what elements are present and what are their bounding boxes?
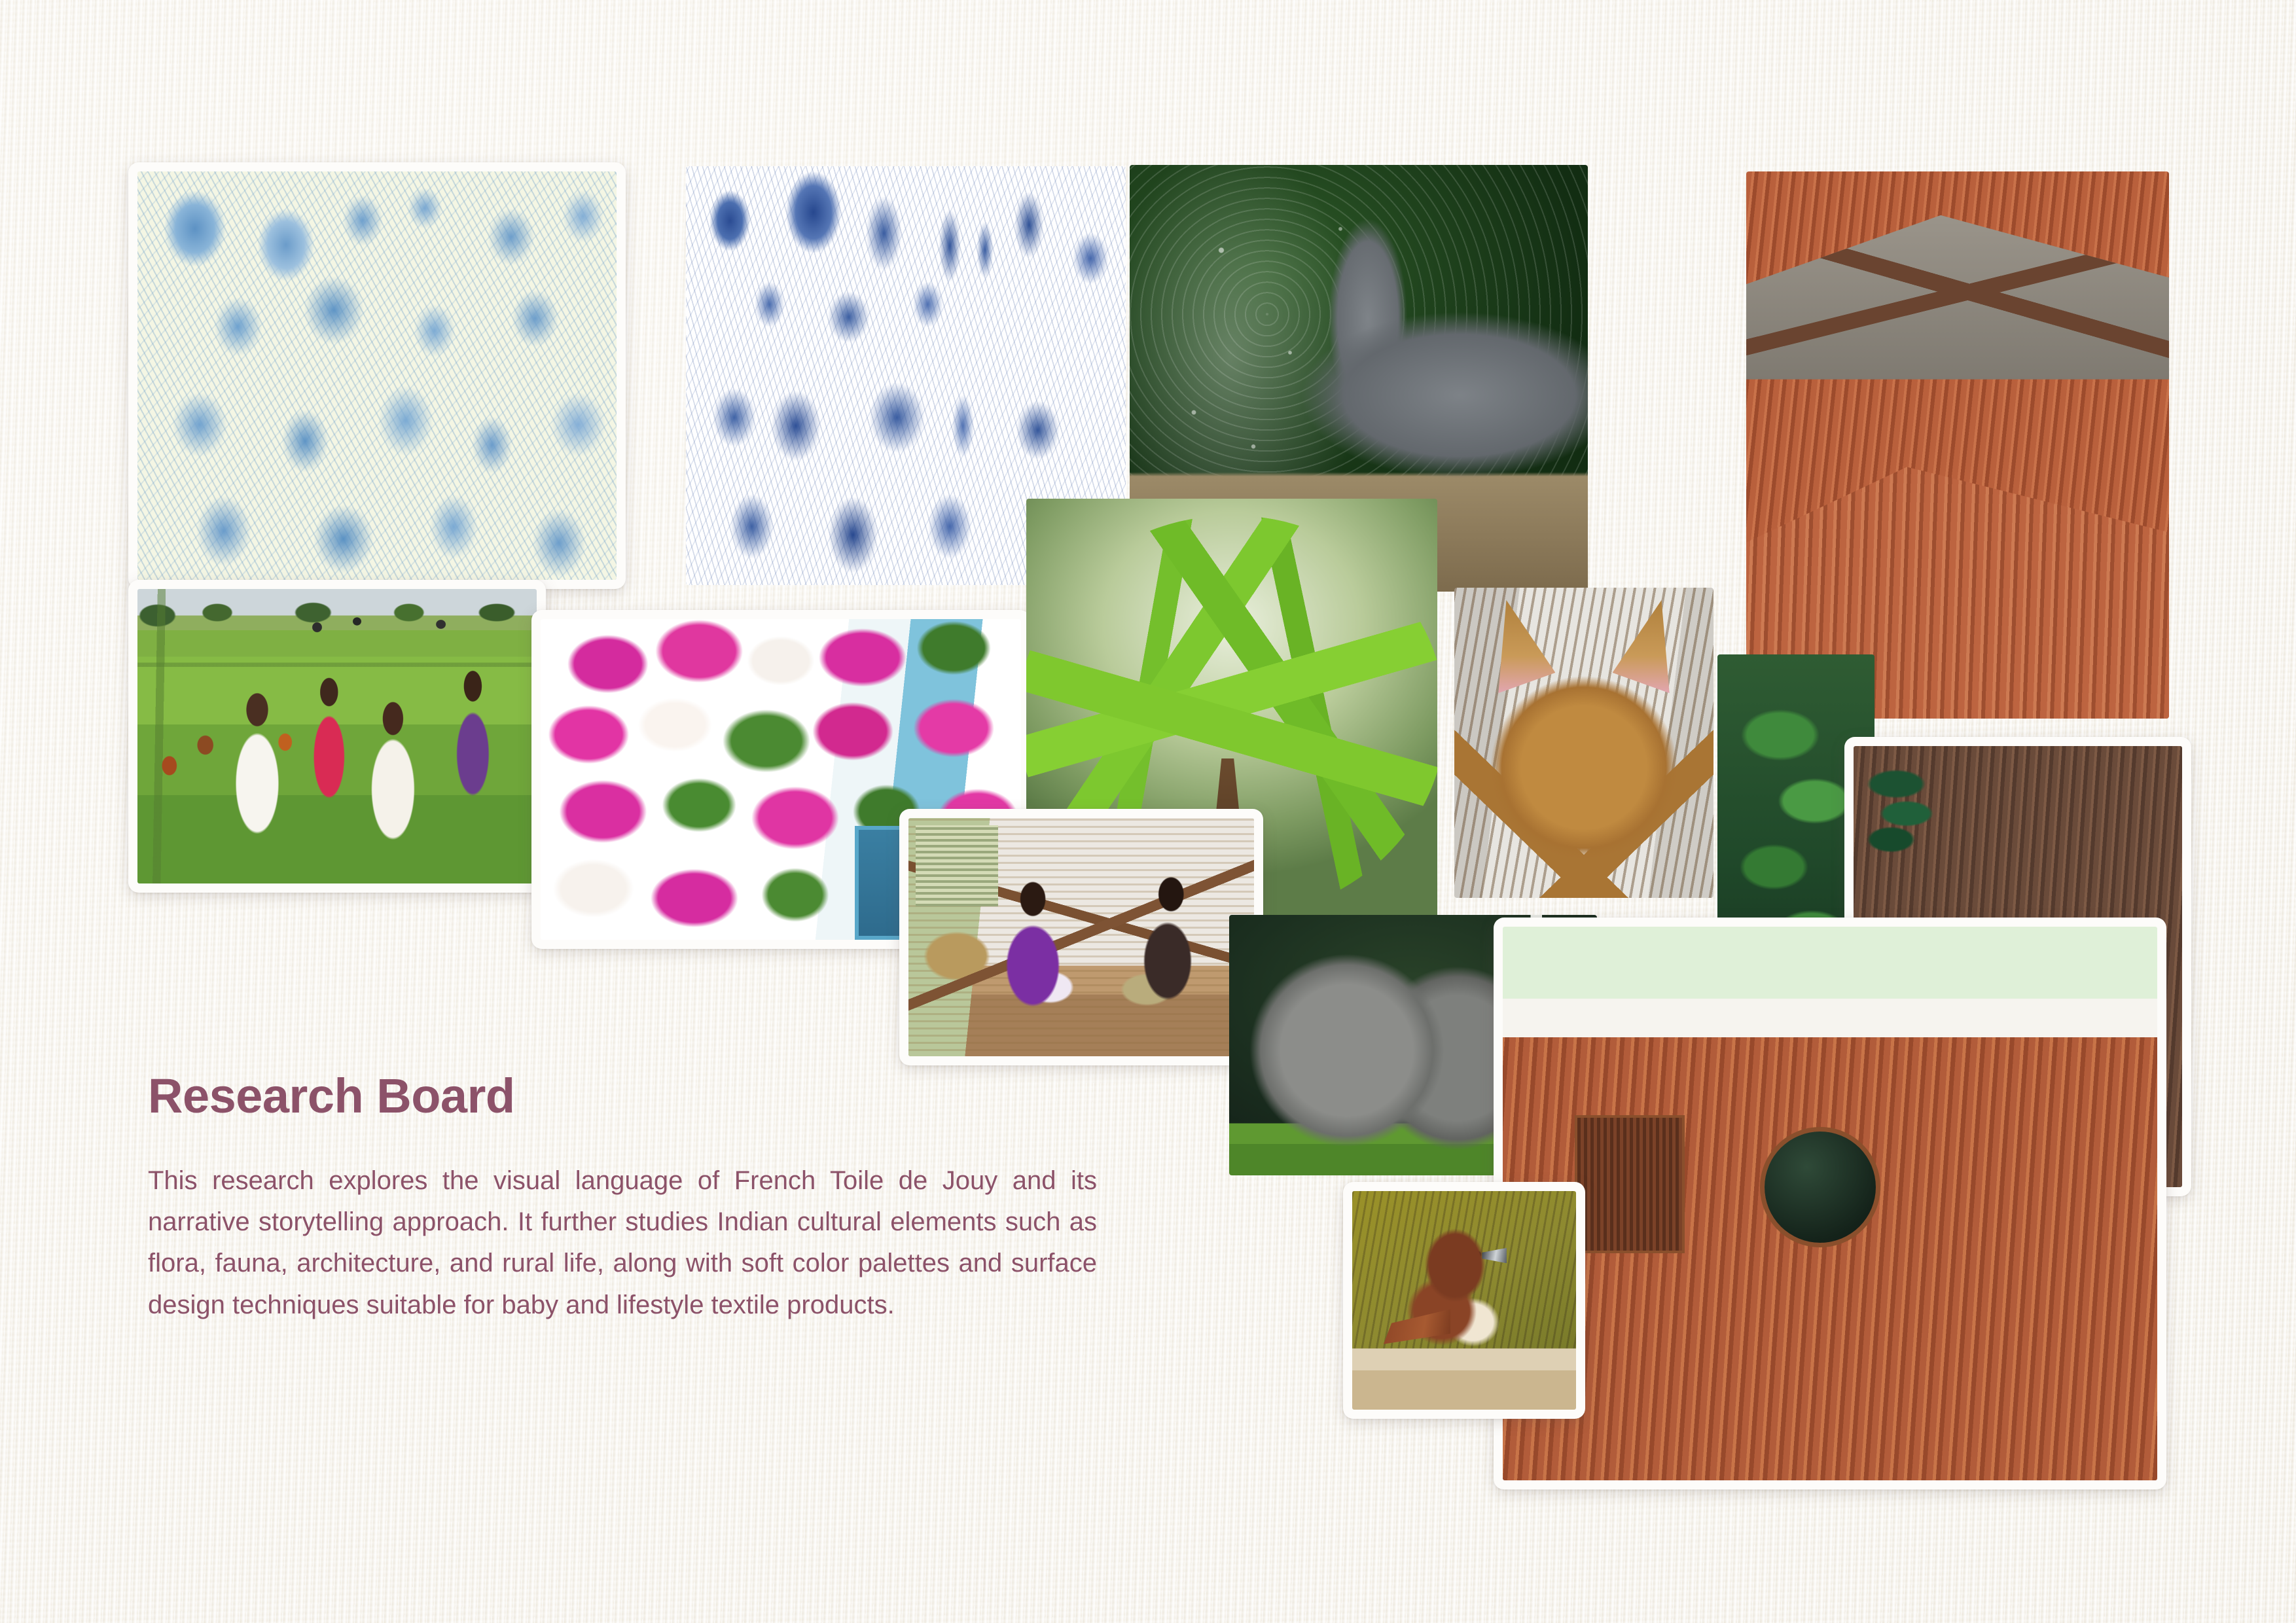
collage-card-munia-bird[interactable]	[1343, 1182, 1585, 1419]
text-block: Research Board This research explores th…	[148, 1068, 1110, 1326]
research-moodboard-collage	[0, 0, 2296, 1623]
collage-card-toile-cream[interactable]	[128, 162, 626, 589]
image-kerala-house-terracotta-roof	[1746, 171, 2169, 719]
image-white-house-round-window	[1503, 927, 2157, 1480]
collage-card-girls-playing[interactable]	[899, 809, 1263, 1065]
collage-card-house-white[interactable]	[1494, 918, 2166, 1489]
body-copy: This research explores the visual langua…	[148, 1160, 1097, 1326]
image-brown-tabby-cat-portrait	[1454, 588, 1713, 898]
collage-card-paddy-girls[interactable]	[128, 580, 546, 893]
image-girls-in-paddy-field	[137, 589, 537, 883]
page-title: Research Board	[148, 1068, 1110, 1124]
image-scaly-breasted-munia	[1352, 1191, 1576, 1410]
collage-card-tabby-cat[interactable]	[1454, 588, 1713, 898]
image-two-girls-clapping-game	[908, 818, 1254, 1056]
collage-card-house-tile-day[interactable]	[1746, 171, 2169, 719]
image-toile-de-jouy-blue-on-cream	[137, 171, 617, 580]
